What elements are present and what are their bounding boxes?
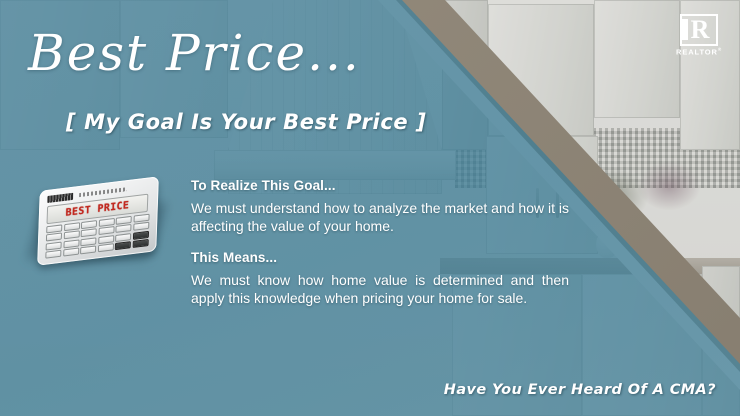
block-body: We must know how home value is determine… — [191, 271, 569, 308]
calculator-key — [45, 250, 61, 259]
footer-tagline: Have You Ever Heard Of A CMA? — [444, 382, 716, 398]
calculator-key — [64, 222, 80, 231]
calculator-image: BEST PRICE — [30, 180, 166, 266]
realtor-mark-bar — [682, 19, 688, 40]
block-heading: This Means... — [191, 250, 569, 267]
calculator-key — [46, 224, 62, 233]
page-title: Best Price... — [28, 26, 361, 80]
slide-canvas: R REALTOR® Best Price... [ My Goal Is Yo… — [0, 0, 740, 416]
block-body: We must understand how to analyze the ma… — [191, 199, 569, 236]
calculator-key — [115, 241, 131, 250]
calculator-key — [63, 239, 79, 248]
calculator-key — [116, 216, 132, 225]
block-heading: To Realize This Goal... — [191, 178, 569, 195]
calculator-key — [63, 248, 79, 257]
content-block-means: This Means... We must know how home valu… — [191, 250, 569, 308]
calculator-key — [98, 226, 114, 235]
calculator-key — [116, 224, 132, 233]
realtor-wordmark-text: REALTOR — [676, 48, 718, 57]
calculator-key — [98, 243, 114, 252]
calculator-key — [98, 235, 114, 244]
calculator-key — [81, 220, 97, 229]
solar-panel — [47, 193, 73, 203]
calculator-display-text: BEST PRICE — [65, 200, 129, 219]
calculator-body: BEST PRICE — [37, 176, 159, 266]
calculator-key — [81, 237, 97, 246]
calculator-brand-text — [79, 187, 127, 197]
calculator-key — [133, 239, 149, 248]
calculator-key — [115, 233, 131, 242]
realtor-wordmark: REALTOR® — [676, 47, 722, 57]
calculator-key — [134, 214, 150, 223]
calculator-key — [99, 218, 115, 227]
calculator-key — [80, 246, 96, 255]
calculator-key — [81, 229, 97, 238]
calculator-key — [133, 231, 149, 240]
calculator-key — [46, 233, 62, 242]
registered-mark: ® — [718, 47, 722, 52]
calculator-key — [133, 222, 149, 231]
content-block-goal: To Realize This Goal... We must understa… — [191, 178, 569, 236]
page-subtitle: [ My Goal Is Your Best Price ] — [66, 110, 426, 134]
calculator-key — [63, 231, 79, 240]
realtor-logo: R REALTOR® — [676, 14, 722, 60]
realtor-letter: R — [690, 16, 710, 43]
calculator-key — [46, 241, 62, 250]
